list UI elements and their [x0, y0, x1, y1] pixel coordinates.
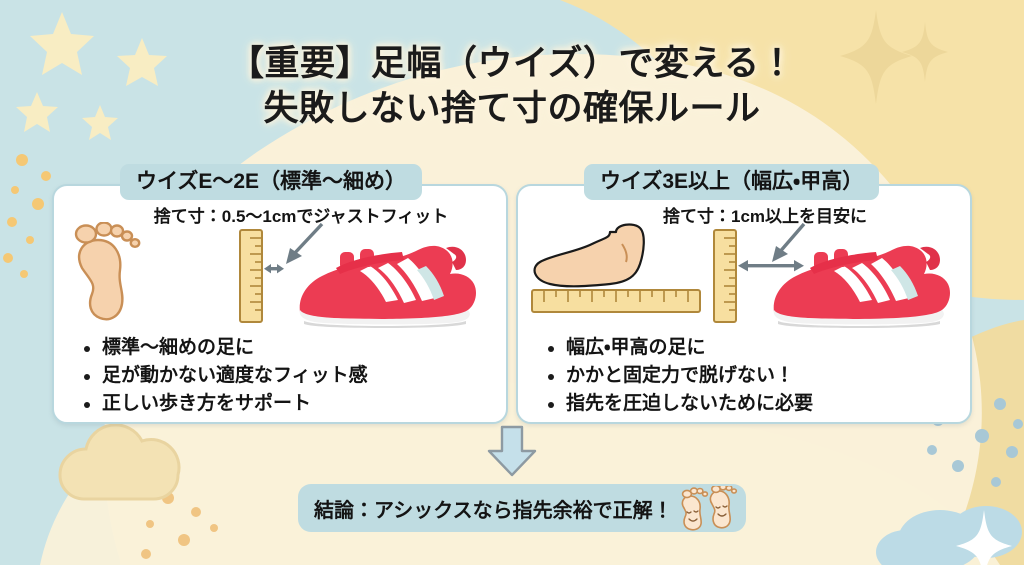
double-arrow-wide-icon: [738, 260, 804, 271]
panel-right-illustration: [518, 222, 970, 330]
dot-cluster-bottomleft: [141, 492, 218, 559]
page-title: 【重要】足幅（ウイズ）で変える！ 失敗しない捨て寸の確保ルール: [0, 42, 1024, 132]
panel-left-illustration: [54, 222, 506, 330]
double-arrow-small-icon: [264, 264, 284, 273]
cloud-bottomleft: [60, 425, 179, 499]
conclusion-text: 結論：アシックスなら指先余裕で正解！: [298, 494, 673, 523]
pointer-arrow-icon: [286, 224, 322, 264]
list-item: 標準〜細めの足に: [78, 334, 498, 362]
kids-sneaker-icon: [300, 246, 476, 328]
list-item: 正しい歩き方をサポート: [78, 390, 498, 418]
title-line-2: 失敗しない捨て寸の確保ルール: [0, 87, 1024, 132]
cloud-topright: [876, 506, 1022, 565]
smiling-feet-icon: [676, 486, 738, 537]
ruler-vertical-icon: [714, 230, 736, 322]
panel-left-title-pill: ウイズE〜2E（標準〜細め）: [120, 164, 422, 200]
panel-width-3e-plus: 捨て寸：1cm以上を目安に: [516, 184, 972, 424]
ruler-vertical-icon: [240, 230, 262, 322]
panel-left-bullets: 標準〜細めの足に 足が動かない適度なフィット感 正しい歩き方をサポート: [78, 334, 498, 418]
list-item: 指先を圧迫しないために必要: [542, 390, 962, 418]
footprint-top-view-icon: [76, 223, 139, 320]
list-item: 幅広・甲高の足に: [542, 334, 962, 362]
ruler-horizontal-icon: [532, 290, 700, 312]
title-line-1: 【重要】足幅（ウイズ）で変える！: [0, 42, 1024, 87]
foot-side-view-icon: [535, 225, 644, 287]
sparkle-bottomright: [956, 510, 1012, 565]
list-item: かかと固定力で脱げない！: [542, 362, 962, 390]
panel-right-title-pill: ウイズ3E以上（幅広・甲高）: [584, 164, 879, 200]
pointer-arrow-icon: [772, 224, 804, 262]
panel-right-bullets: 幅広・甲高の足に かかと固定力で脱げない！ 指先を圧迫しないために必要: [542, 334, 962, 418]
panel-width-e-2e: 捨て寸：0.5〜1cmでジャストフィット: [52, 184, 508, 424]
kids-sneaker-icon: [774, 246, 950, 328]
conclusion-banner: 結論：アシックスなら指先余裕で正解！: [298, 484, 746, 532]
list-item: 足が動かない適度なフィット感: [78, 362, 498, 390]
infographic-canvas: 【重要】足幅（ウイズ）で変える！ 失敗しない捨て寸の確保ルール 捨て寸：0.5〜…: [0, 0, 1024, 565]
arrow-down-icon: [484, 425, 540, 482]
